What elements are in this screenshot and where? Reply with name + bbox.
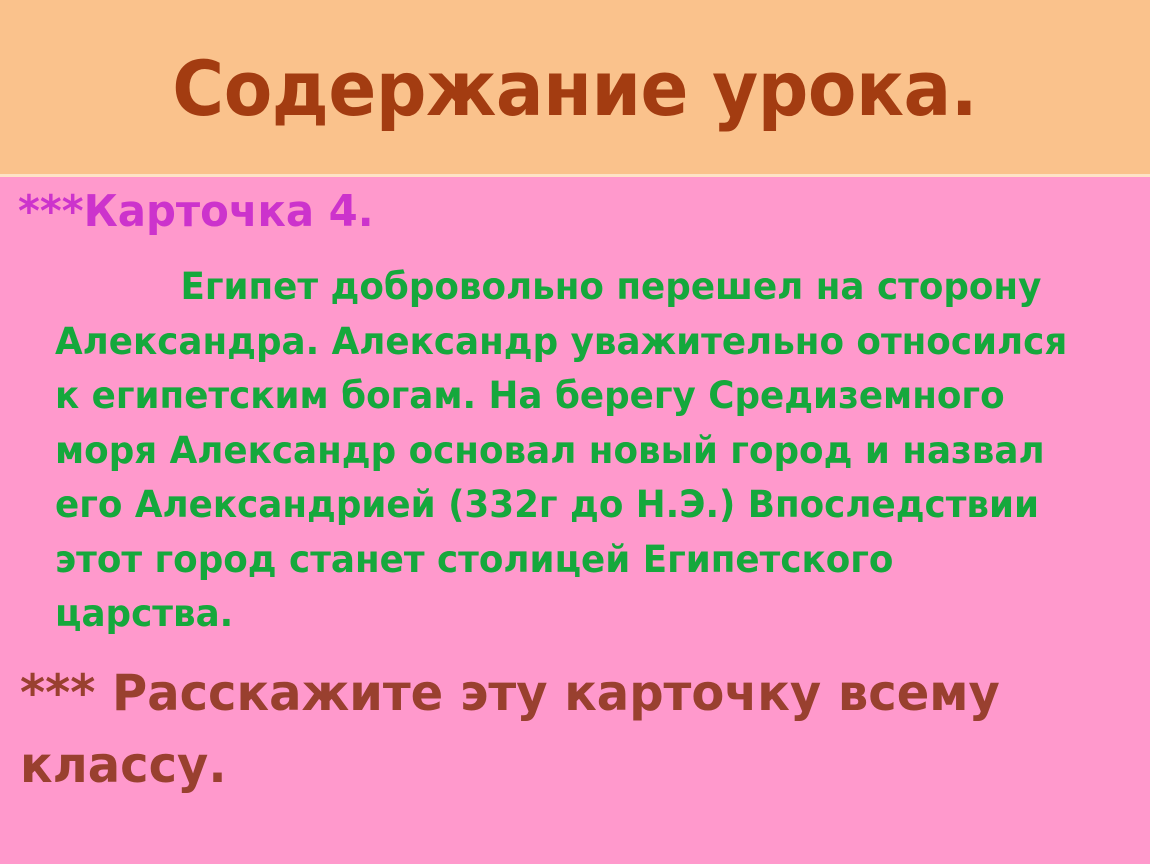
card-body-text: Египет добровольно перешел на сторону Ал… xyxy=(55,260,1078,642)
slide-body: ***Карточка 4. Египет добровольно переше… xyxy=(0,180,1150,864)
card-heading: ***Карточка 4. xyxy=(18,186,1063,238)
call-to-action-text: *** Расскажите эту карточку всему классу… xyxy=(20,657,1086,801)
slide: Содержание урока. ***Карточка 4. Египет … xyxy=(0,0,1150,864)
page-title: Содержание урока. xyxy=(173,49,978,129)
slide-title-band: Содержание урока. xyxy=(0,0,1150,177)
